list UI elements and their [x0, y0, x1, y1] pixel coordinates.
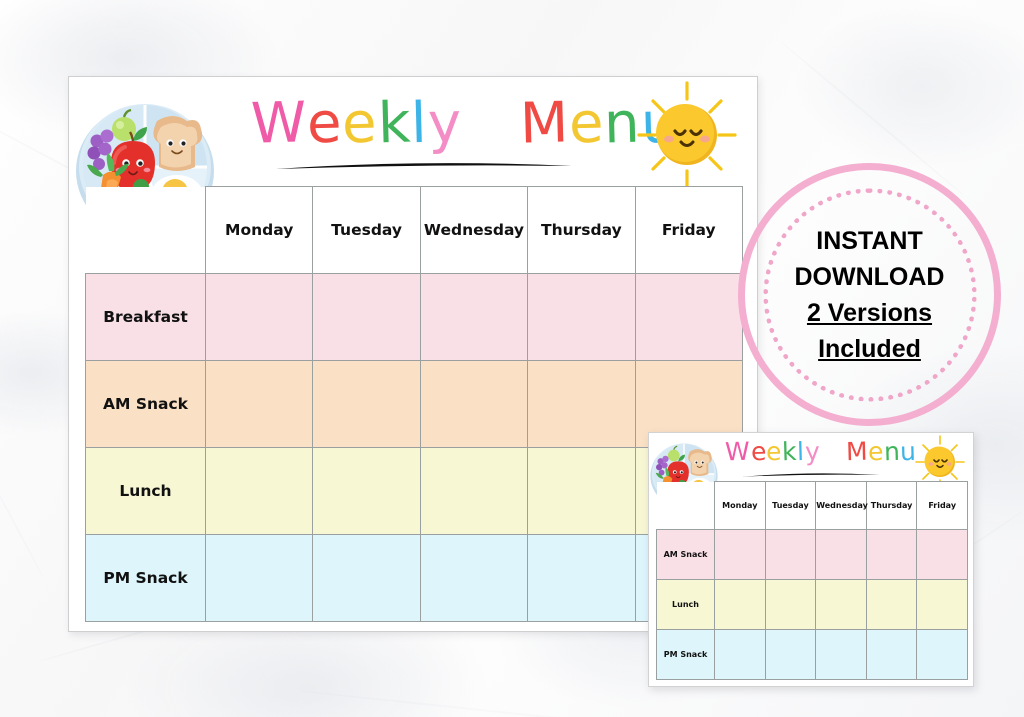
row-label-pm-snack: PM Snack	[86, 535, 206, 622]
day-header-thursday: Thursday	[528, 187, 635, 274]
menu-cell[interactable]	[917, 630, 968, 680]
day-header-friday: Friday	[635, 187, 742, 274]
title-letter: e	[342, 91, 379, 158]
badge-line-included: Included	[765, 331, 975, 367]
title-word-weekly: Weekly	[251, 91, 481, 156]
table-header-row: Monday Tuesday Wednesday Thursday Friday	[86, 187, 743, 274]
table-corner-cell	[657, 482, 715, 530]
smiling-sun-icon	[627, 81, 747, 189]
menu-cell[interactable]	[635, 274, 742, 361]
table-row-lunch: Lunch	[86, 448, 743, 535]
menu-cell[interactable]	[917, 530, 968, 580]
menu-cell[interactable]	[420, 535, 527, 622]
title-word-menu: Menu	[838, 437, 917, 466]
menu-cell[interactable]	[866, 530, 917, 580]
table-row-am-snack: AM Snack	[86, 361, 743, 448]
title-letter: l	[410, 91, 428, 157]
menu-cell[interactable]	[206, 448, 313, 535]
menu-cell[interactable]	[528, 361, 635, 448]
title-letter: W	[725, 437, 751, 468]
table-row-lunch: Lunch	[657, 580, 968, 630]
title-underline-stroke	[741, 466, 881, 474]
day-header-thursday: Thursday	[866, 482, 917, 530]
badge-line-versions: 2 Versions	[765, 295, 975, 331]
marble-vein	[0, 421, 45, 581]
title-underline-stroke	[274, 159, 574, 173]
row-label-pm-snack: PM Snack	[657, 630, 715, 680]
menu-cell[interactable]	[765, 580, 816, 630]
table-body: Breakfast AM Snack Lunch	[86, 274, 743, 622]
table-header-row: Monday Tuesday Wednesday Thursday Friday	[657, 482, 968, 530]
title-letter: e	[766, 437, 783, 467]
weekly-menu-table[interactable]: Monday Tuesday Wednesday Thursday Friday…	[656, 481, 968, 680]
title-letter: k	[782, 437, 798, 467]
menu-cell[interactable]	[816, 530, 867, 580]
row-label-am-snack: AM Snack	[86, 361, 206, 448]
card-header: Weekly Menu	[69, 77, 757, 186]
small-card-header: Weekly Menu	[649, 433, 973, 481]
menu-cell[interactable]	[313, 361, 420, 448]
row-label-am-snack: AM Snack	[657, 530, 715, 580]
day-header-tuesday: Tuesday	[313, 187, 420, 274]
row-label-lunch: Lunch	[86, 448, 206, 535]
menu-cell[interactable]	[765, 530, 816, 580]
menu-cell[interactable]	[206, 535, 313, 622]
day-header-monday: Monday	[715, 482, 766, 530]
row-label-breakfast: Breakfast	[86, 274, 206, 361]
title-letter: k	[377, 91, 412, 158]
weekly-menu-table[interactable]: Monday Tuesday Wednesday Thursday Friday…	[85, 186, 743, 622]
menu-cell[interactable]	[420, 361, 527, 448]
menu-cell[interactable]	[313, 535, 420, 622]
menu-cell[interactable]	[816, 580, 867, 630]
menu-cell[interactable]	[313, 448, 420, 535]
day-header-wednesday: Wednesday	[420, 187, 527, 274]
table-header: Monday Tuesday Wednesday Thursday Friday	[86, 187, 743, 274]
menu-cell[interactable]	[866, 580, 917, 630]
day-header-tuesday: Tuesday	[765, 482, 816, 530]
badge-line-instant: INSTANT	[765, 223, 975, 259]
table-row-pm-snack: PM Snack	[86, 535, 743, 622]
title-letter: y	[804, 437, 820, 467]
table-row-am-snack: AM Snack	[657, 530, 968, 580]
table-header: Monday Tuesday Wednesday Thursday Friday	[657, 482, 968, 530]
menu-cell[interactable]	[420, 448, 527, 535]
menu-cell[interactable]	[765, 630, 816, 680]
title-letter: n	[884, 437, 901, 467]
instant-download-badge: INSTANT DOWNLOAD 2 Versions Included	[738, 163, 1001, 426]
row-label-lunch: Lunch	[657, 580, 715, 630]
title-letter: M	[519, 90, 570, 157]
day-header-monday: Monday	[206, 187, 313, 274]
title-letter: e	[306, 91, 343, 158]
day-header-friday: Friday	[917, 482, 968, 530]
badge-line-download: DOWNLOAD	[765, 259, 975, 295]
day-header-wednesday: Wednesday	[816, 482, 867, 530]
menu-cell[interactable]	[715, 530, 766, 580]
table-row-pm-snack: PM Snack	[657, 630, 968, 680]
title-letter: M	[846, 437, 869, 468]
menu-cell[interactable]	[528, 535, 635, 622]
menu-cell[interactable]	[917, 580, 968, 630]
menu-cell[interactable]	[206, 361, 313, 448]
marble-vein	[300, 690, 628, 717]
title-word-weekly: Weekly	[725, 437, 828, 466]
badge-text: INSTANT DOWNLOAD 2 Versions Included	[765, 223, 975, 367]
menu-cell[interactable]	[715, 580, 766, 630]
title-letter: e	[868, 437, 885, 467]
menu-cell[interactable]	[715, 630, 766, 680]
title-letter: W	[250, 90, 308, 157]
table-row-breakfast: Breakfast	[86, 274, 743, 361]
page-title: Weekly Menu	[721, 437, 921, 467]
menu-cell[interactable]	[528, 274, 635, 361]
table-body: AM Snack Lunch PM Snack	[657, 530, 968, 680]
menu-cell[interactable]	[816, 630, 867, 680]
table-corner-cell	[86, 187, 206, 274]
menu-cell[interactable]	[420, 274, 527, 361]
title-letter: y	[427, 91, 463, 158]
title-letter: e	[750, 437, 767, 467]
title-letter: e	[568, 91, 605, 158]
menu-cell[interactable]	[313, 274, 420, 361]
small-preview-card[interactable]: Weekly Menu	[648, 432, 974, 687]
menu-cell[interactable]	[206, 274, 313, 361]
menu-cell[interactable]	[866, 630, 917, 680]
menu-cell[interactable]	[528, 448, 635, 535]
